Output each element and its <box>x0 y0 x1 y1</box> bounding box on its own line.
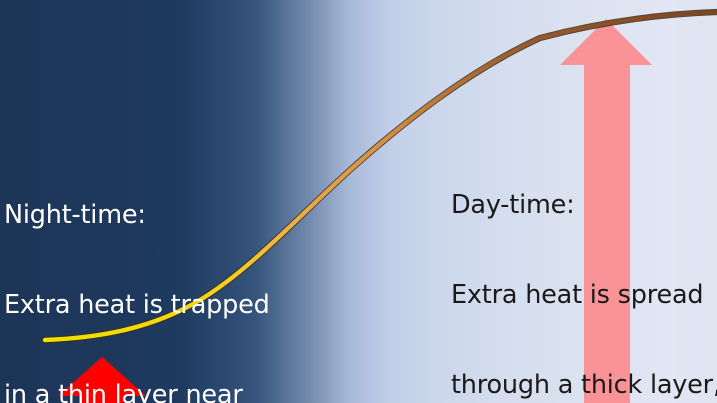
day-caption-line-2: through a thick layer, <box>451 370 717 400</box>
day-caption-line-1: Extra heat is spread <box>451 280 717 310</box>
day-caption-heading: Day-time: <box>451 190 717 220</box>
illustration-canvas: Night-time: Extra heat is trapped in a t… <box>0 0 717 403</box>
night-caption-line-1: Extra heat is trapped <box>4 290 270 320</box>
night-caption-heading: Night-time: <box>4 200 270 230</box>
night-caption-line-2: in a thin layer near <box>4 380 270 403</box>
night-time-caption: Night-time: Extra heat is trapped in a t… <box>4 140 270 403</box>
day-time-caption: Day-time: Extra heat is spread through a… <box>451 130 717 403</box>
